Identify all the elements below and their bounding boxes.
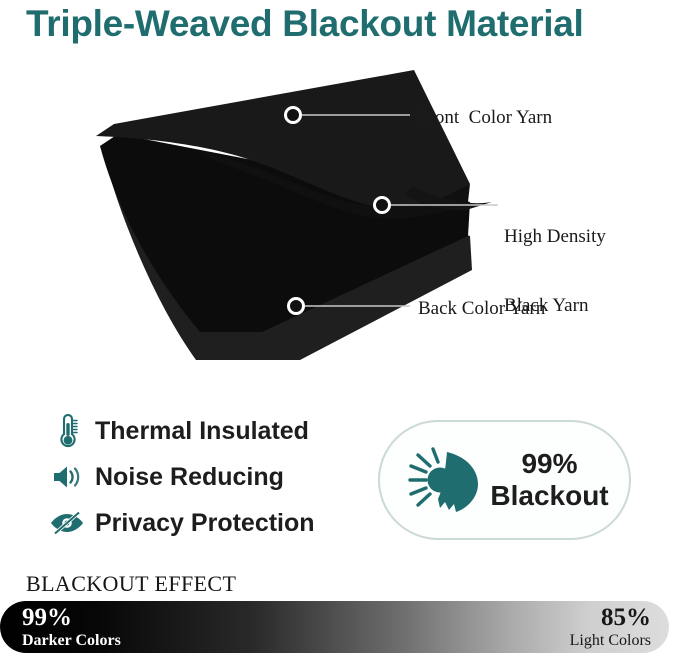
gradient-bar-left-percent: 99% [22, 605, 72, 630]
blackout-gradient-bar: 99% Darker Colors 85% Light Colors [0, 601, 669, 653]
feature-row-thermal: Thermal Insulated [44, 408, 374, 454]
callout-label-front: Front Color Yarn [418, 106, 552, 129]
badge-percent: 99% [490, 448, 608, 480]
eye-slash-icon [44, 503, 90, 543]
feature-row-noise: Noise Reducing [44, 454, 374, 500]
speaker-sound-icon [44, 457, 90, 497]
gradient-bar-right-percent: 85% [601, 605, 651, 630]
callout-label-high-density-line1: High Density [504, 225, 606, 248]
gradient-bar-right-stat: 85% Light Colors [570, 601, 651, 653]
gradient-bar-left-stat: 99% Darker Colors [22, 601, 121, 653]
badge-text: 99% Blackout [490, 448, 608, 512]
badge-word: Blackout [490, 480, 608, 512]
gradient-bar-right-caption: Light Colors [570, 631, 651, 650]
feature-row-privacy: Privacy Protection [44, 500, 374, 546]
callout-label-back: Back Color Yarn [418, 297, 545, 320]
feature-list: Thermal Insulated Noise Reducing Privacy… [44, 408, 374, 546]
callout-dot-high-density [375, 198, 390, 213]
callout-dot-front [286, 108, 301, 123]
sun-behind-curtain-icon [400, 442, 484, 518]
feature-label-thermal: Thermal Insulated [90, 417, 309, 445]
feature-label-noise: Noise Reducing [90, 463, 284, 491]
blackout-badge: 99% Blackout [378, 420, 631, 540]
callout-dot-back [289, 299, 304, 314]
thermometer-icon [44, 411, 90, 451]
page-title: Triple-Weaved Blackout Material [26, 2, 656, 46]
feature-label-privacy: Privacy Protection [90, 509, 315, 537]
gradient-bar-left-caption: Darker Colors [22, 631, 121, 650]
blackout-effect-heading: BLACKOUT EFFECT [26, 571, 236, 597]
